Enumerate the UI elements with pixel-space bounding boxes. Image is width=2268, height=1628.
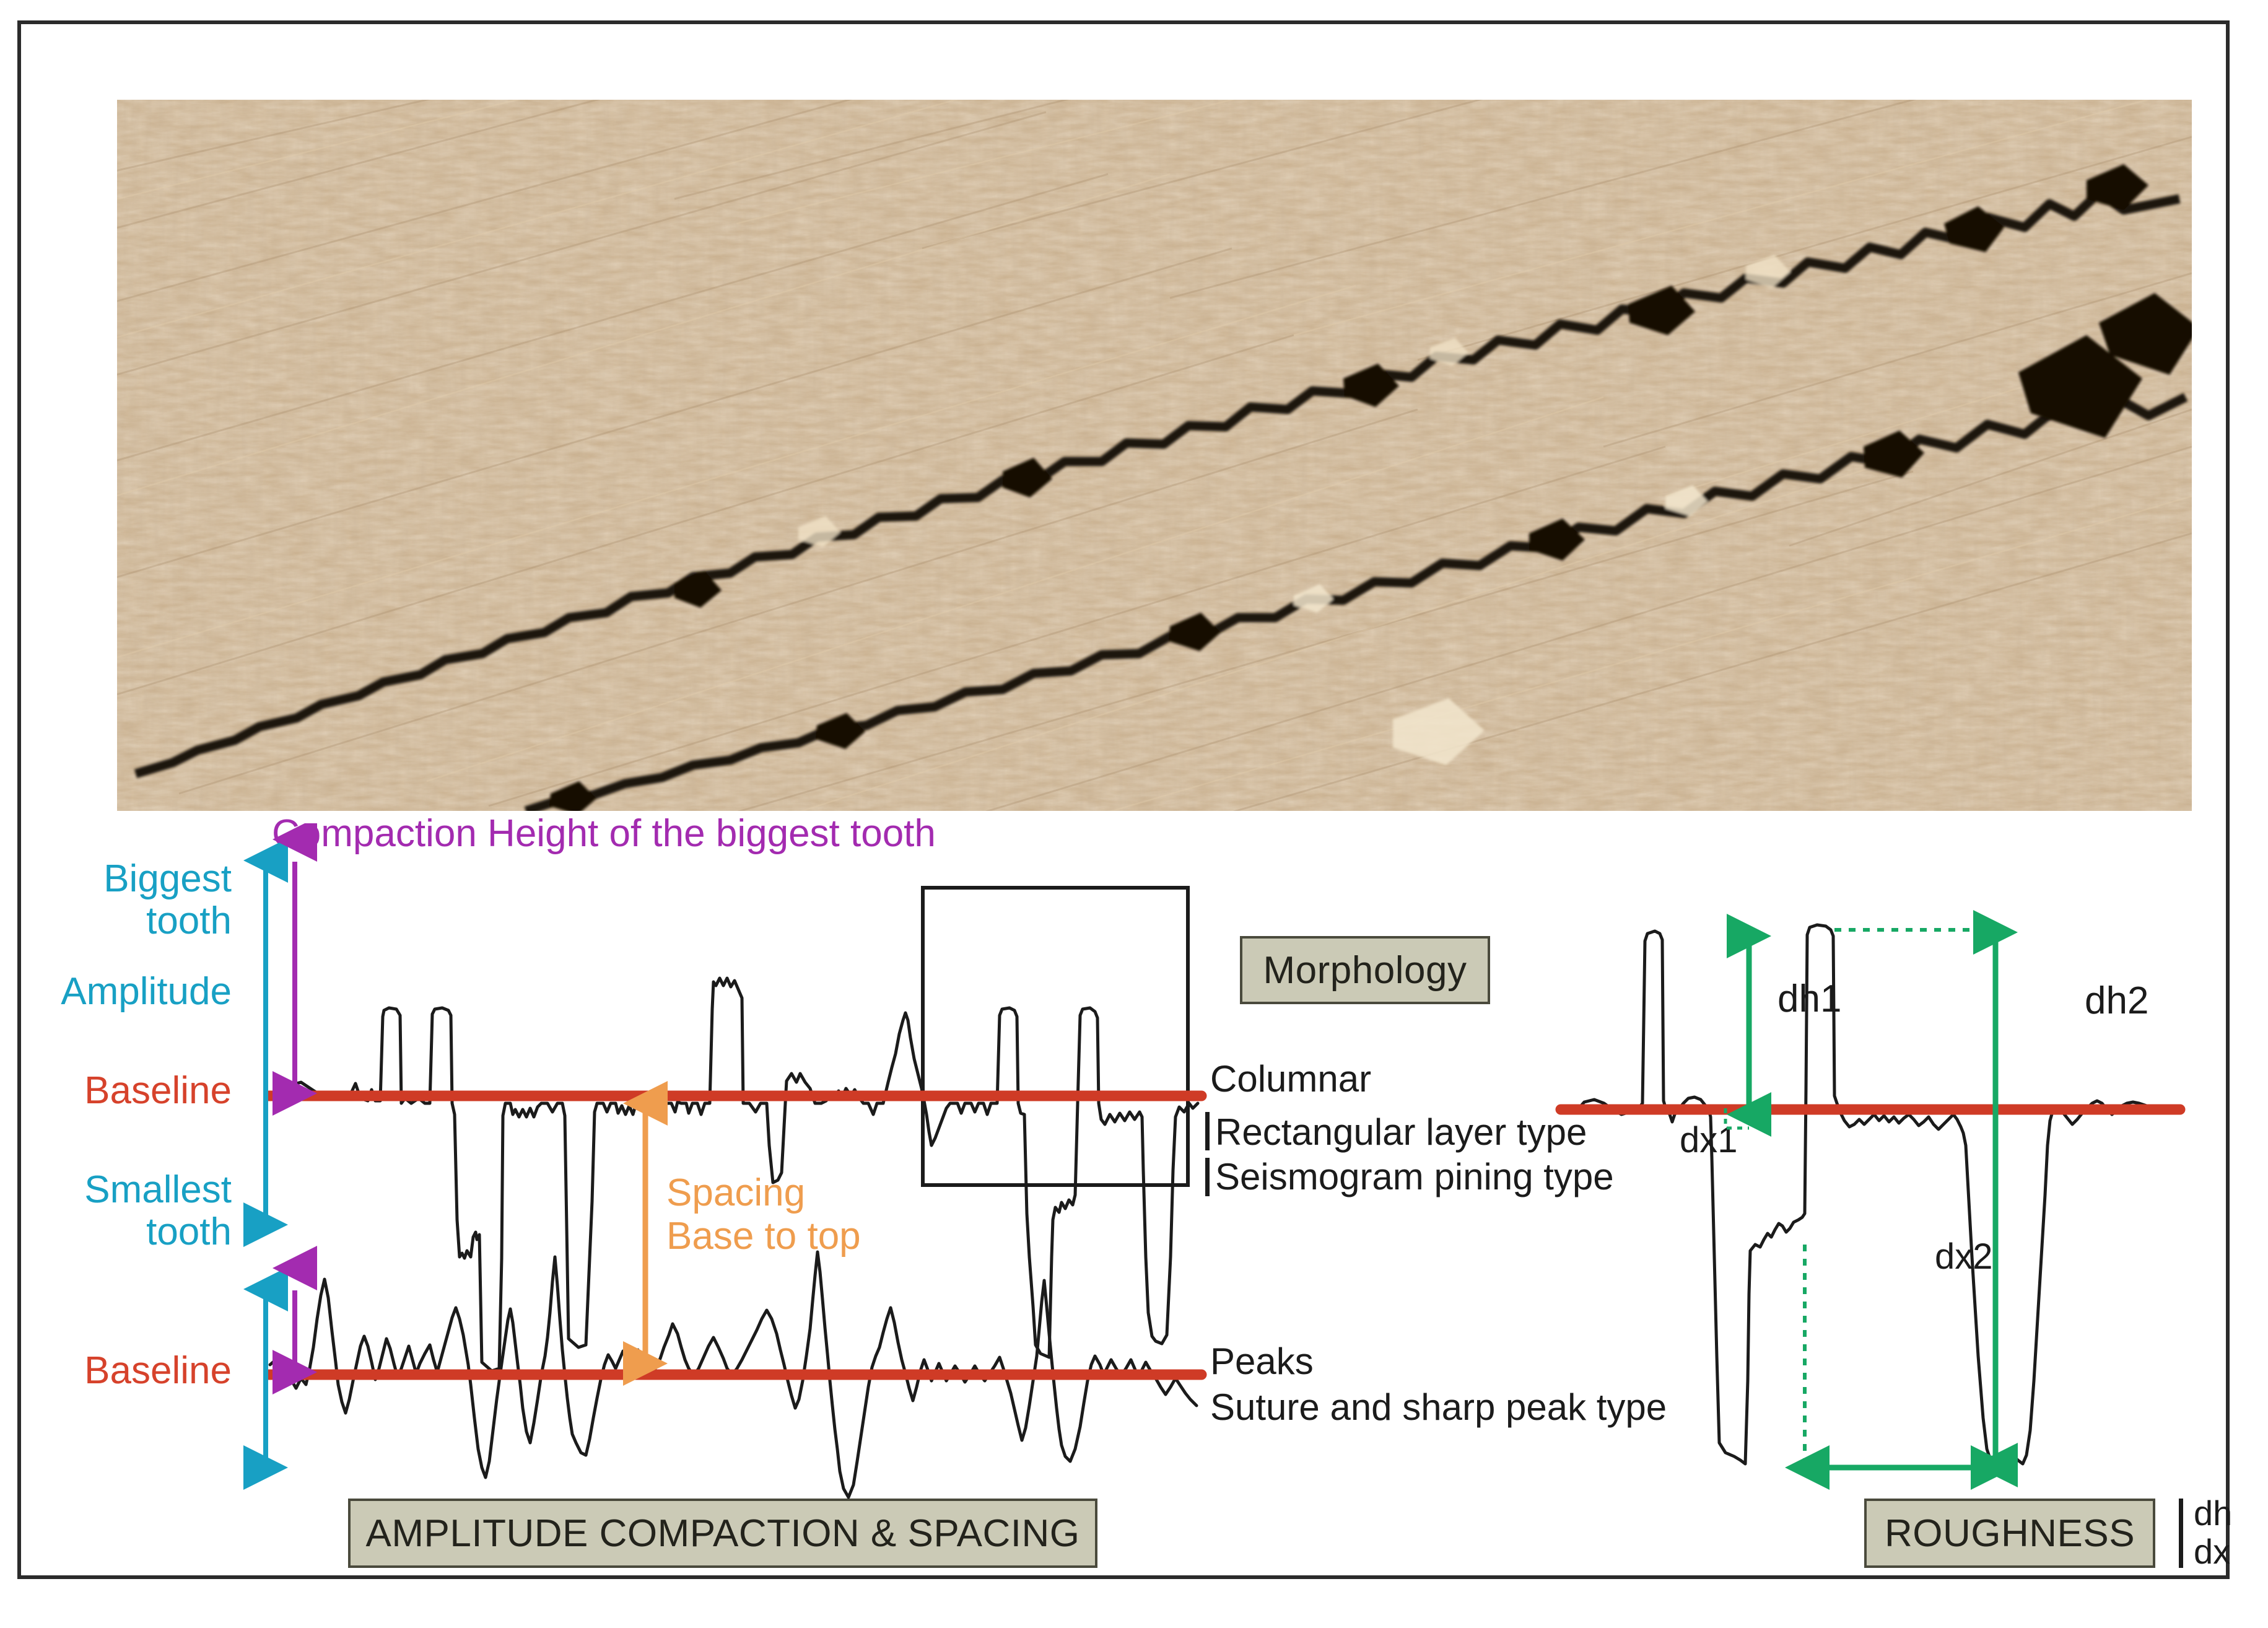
- stylolite-diagram: [21, 823, 2233, 1579]
- inset-highlight-box: [923, 888, 1188, 1185]
- photomicrograph: [117, 100, 2192, 811]
- stylolite-diagram-svg: [21, 823, 2233, 1579]
- photomicrograph-svg: [117, 100, 2192, 811]
- figure-frame: Compaction Height of the biggest tooth B…: [17, 20, 2230, 1579]
- figure-page: Compaction Height of the biggest tooth B…: [0, 0, 2268, 1628]
- columnar-trace: [270, 978, 1198, 1371]
- photomicrograph-image: [117, 100, 2192, 811]
- roughness-trace: [1576, 925, 2170, 1464]
